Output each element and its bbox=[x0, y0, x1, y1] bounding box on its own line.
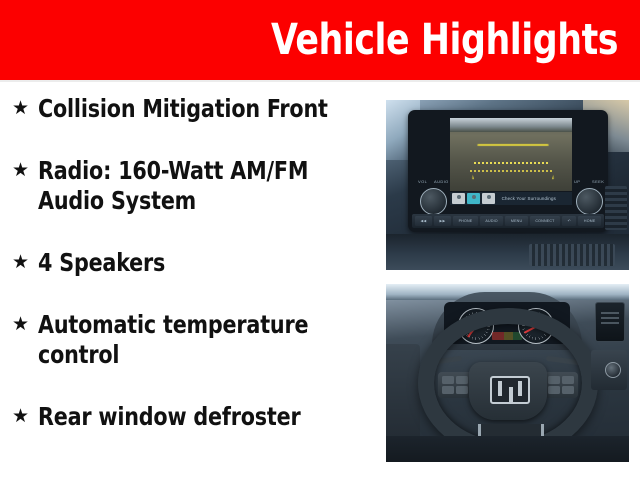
up-knob-label: UP bbox=[574, 179, 580, 184]
rail-button[interactable]: MENU bbox=[505, 216, 527, 226]
list-item: ★ 4 Speakers bbox=[8, 248, 371, 278]
rear-camera-display bbox=[450, 118, 572, 191]
steering-control-button[interactable] bbox=[442, 386, 454, 394]
steering-control-button[interactable] bbox=[456, 386, 468, 394]
steering-control-button[interactable] bbox=[548, 376, 560, 384]
tune-knob[interactable] bbox=[576, 188, 603, 215]
star-bullet-icon: ★ bbox=[8, 402, 38, 432]
camera-mode-wide-icon[interactable] bbox=[467, 193, 480, 204]
seek-knob-label: SEEK bbox=[592, 179, 604, 184]
honda-logo-icon bbox=[490, 376, 530, 404]
feature-label: Collision Mitigation Front bbox=[38, 94, 344, 124]
rail-button[interactable]: ▶▶ bbox=[434, 216, 451, 226]
dashboard-air-vent bbox=[605, 186, 627, 230]
infotainment-photo[interactable]: Check Your Surroundings VOL AUDIO UP SEE… bbox=[386, 100, 629, 270]
camera-horizon bbox=[450, 118, 572, 132]
camera-mode-topdown-icon[interactable] bbox=[482, 193, 495, 204]
feature-label: 4 Speakers bbox=[38, 248, 344, 278]
star-bullet-icon: ★ bbox=[8, 94, 38, 124]
feature-label: Radio: 160-Watt AM/FM Audio System bbox=[38, 156, 344, 216]
feature-label: Rear window defroster bbox=[38, 402, 344, 432]
list-item: ★ Collision Mitigation Front bbox=[8, 94, 371, 124]
vehicle-highlights-list: ★ Collision Mitigation Front ★ Radio: 16… bbox=[0, 88, 375, 480]
steering-control-button[interactable] bbox=[562, 376, 574, 384]
vehicle-photo-column: Check Your Surroundings VOL AUDIO UP SEE… bbox=[386, 100, 632, 464]
cabin-floor bbox=[386, 436, 629, 462]
rail-button[interactable]: ◀◀ bbox=[415, 216, 432, 226]
rail-button[interactable]: CONNECT bbox=[530, 216, 560, 226]
list-item: ★ Automatic temperature control bbox=[8, 310, 371, 370]
rail-button[interactable]: ↶ bbox=[562, 216, 576, 226]
header-divider bbox=[0, 80, 640, 82]
steering-control-button[interactable] bbox=[442, 376, 454, 384]
feature-label: Automatic temperature control bbox=[38, 310, 344, 370]
camera-mode-switcher[interactable] bbox=[452, 193, 495, 204]
steering-wheel-photo[interactable]: 0 bbox=[386, 284, 629, 462]
steering-control-button[interactable] bbox=[456, 376, 468, 384]
rail-button[interactable]: HOME bbox=[578, 216, 601, 226]
header-banner: Vehicle Highlights bbox=[0, 0, 640, 80]
head-unit-button-rail[interactable]: ◀◀ ▶▶ PHONE AUDIO MENU CONNECT ↶ HOME bbox=[412, 214, 604, 228]
door-panel bbox=[386, 344, 420, 448]
star-bullet-icon: ★ bbox=[8, 248, 38, 278]
page-title: Vehicle Highlights bbox=[271, 19, 640, 62]
volume-knob-label: VOL bbox=[418, 179, 427, 184]
left-control-button-grid[interactable] bbox=[442, 376, 468, 394]
guideline-distance-marker bbox=[470, 170, 552, 172]
steering-control-button[interactable] bbox=[562, 386, 574, 394]
head-unit: Check Your Surroundings VOL AUDIO UP SEE… bbox=[408, 110, 608, 232]
speaker-grille bbox=[529, 244, 615, 266]
list-item: ★ Radio: 160-Watt AM/FM Audio System bbox=[8, 156, 371, 216]
climate-knob[interactable] bbox=[605, 362, 621, 378]
star-bullet-icon: ★ bbox=[8, 310, 38, 340]
steering-control-button[interactable] bbox=[548, 386, 560, 394]
audio-knob-label: AUDIO bbox=[434, 179, 449, 184]
star-bullet-icon: ★ bbox=[8, 156, 38, 186]
passenger-side-display bbox=[595, 302, 625, 342]
volume-knob[interactable] bbox=[420, 188, 447, 215]
right-steering-controls[interactable] bbox=[544, 372, 578, 398]
list-item: ★ Rear window defroster bbox=[8, 402, 371, 432]
camera-mode-normal-icon[interactable] bbox=[452, 193, 465, 204]
guideline-distance-marker bbox=[474, 162, 548, 164]
left-steering-controls[interactable] bbox=[438, 372, 472, 398]
right-control-button-grid[interactable] bbox=[548, 376, 574, 394]
rail-button[interactable]: PHONE bbox=[453, 216, 478, 226]
rail-button[interactable]: AUDIO bbox=[480, 216, 503, 226]
